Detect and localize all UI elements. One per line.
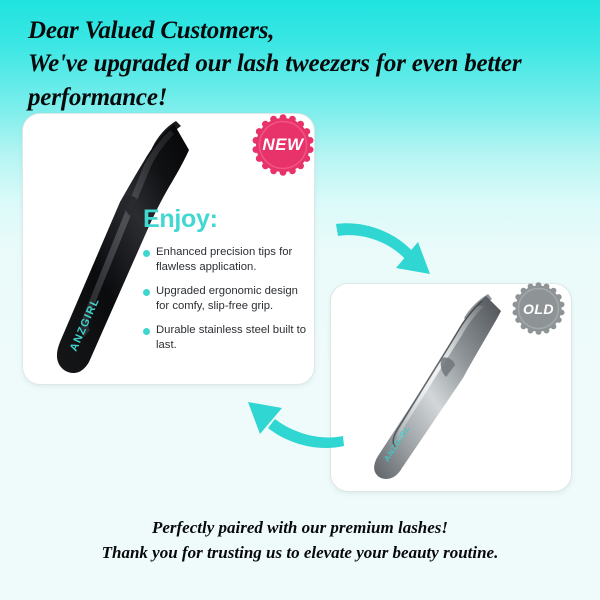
footer-message: Perfectly paired with our premium lashes… xyxy=(0,516,600,565)
old-badge: OLD xyxy=(512,282,565,335)
bullet-dot-icon xyxy=(143,328,150,335)
headline-line-1: Dear Valued Customers, xyxy=(28,14,574,47)
benefit-text: Enhanced precision tips for flawless app… xyxy=(156,245,311,275)
footer-line-1: Perfectly paired with our premium lashes… xyxy=(0,516,600,541)
old-badge-label: OLD xyxy=(512,282,565,335)
headline-line-2: We've upgraded our lash tweezers for eve… xyxy=(28,47,574,80)
benefit-text: Durable stainless steel built to last. xyxy=(156,323,311,353)
headline-line-3: performance! xyxy=(28,81,574,114)
benefit-list-item: Durable stainless steel built to last. xyxy=(143,323,311,353)
enjoy-heading: Enjoy: xyxy=(143,207,311,232)
benefit-list-item: Upgraded ergonomic design for comfy, sli… xyxy=(143,284,311,314)
benefit-list-item: Enhanced precision tips for flawless app… xyxy=(143,245,311,275)
benefit-text: Upgraded ergonomic design for comfy, sli… xyxy=(156,284,311,314)
new-badge-label: NEW xyxy=(252,114,314,176)
headline: Dear Valued Customers, We've upgraded ou… xyxy=(28,14,574,114)
curved-arrow-right-down-icon xyxy=(334,218,452,290)
footer-line-2: Thank you for trusting us to elevate you… xyxy=(0,541,600,566)
bullet-dot-icon xyxy=(143,250,150,257)
new-badge: NEW xyxy=(252,114,314,176)
bullet-dot-icon xyxy=(143,289,150,296)
promotional-poster: Dear Valued Customers, We've upgraded ou… xyxy=(0,0,600,600)
enjoy-benefits-block: Enjoy: Enhanced precision tips for flawl… xyxy=(143,207,311,361)
curved-arrow-left-up-icon xyxy=(238,398,348,460)
